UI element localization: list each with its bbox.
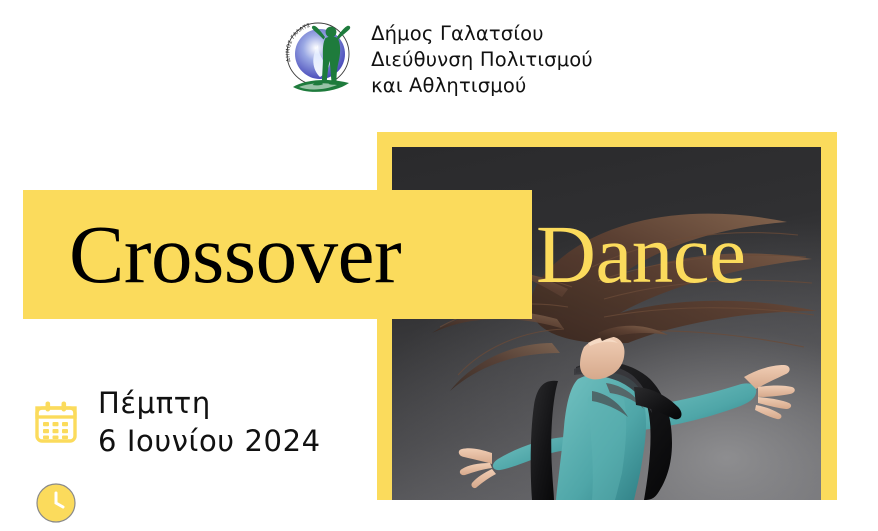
title-band: Crossover [23, 190, 532, 319]
event-details-list: Πέμπτη 6 Ιουνίου 2024 [30, 384, 370, 531]
title-word-one: Crossover [23, 190, 532, 319]
poster-header: ΔΗΜΟΣ ΓΑΛΑΤΣΙΟΥ Δήμος Γαλατσίου Διεύθυνσ… [0, 0, 878, 120]
event-date-text: Πέμπτη 6 Ιουνίου 2024 [98, 384, 321, 461]
event-time-row [30, 475, 370, 531]
organization-name: Δήμος Γαλατσίου Διεύθυνση Πολιτισμού και… [371, 21, 593, 98]
event-day-label: Πέμπτη [98, 384, 321, 422]
org-line-1: Δήμος Γαλατσίου [371, 21, 593, 47]
galatsi-municipality-emblem-icon: ΔΗΜΟΣ ΓΑΛΑΤΣΙΟΥ [285, 17, 361, 103]
event-date-row: Πέμπτη 6 Ιουνίου 2024 [30, 384, 370, 461]
clock-icon [30, 475, 82, 531]
event-date-label: 6 Ιουνίου 2024 [98, 422, 321, 460]
org-line-2: Διεύθυνση Πολιτισμού [371, 47, 593, 73]
calendar-icon [30, 394, 82, 450]
org-line-3: και Αθλητισμού [371, 73, 593, 99]
title-word-two: Dance [536, 190, 745, 319]
